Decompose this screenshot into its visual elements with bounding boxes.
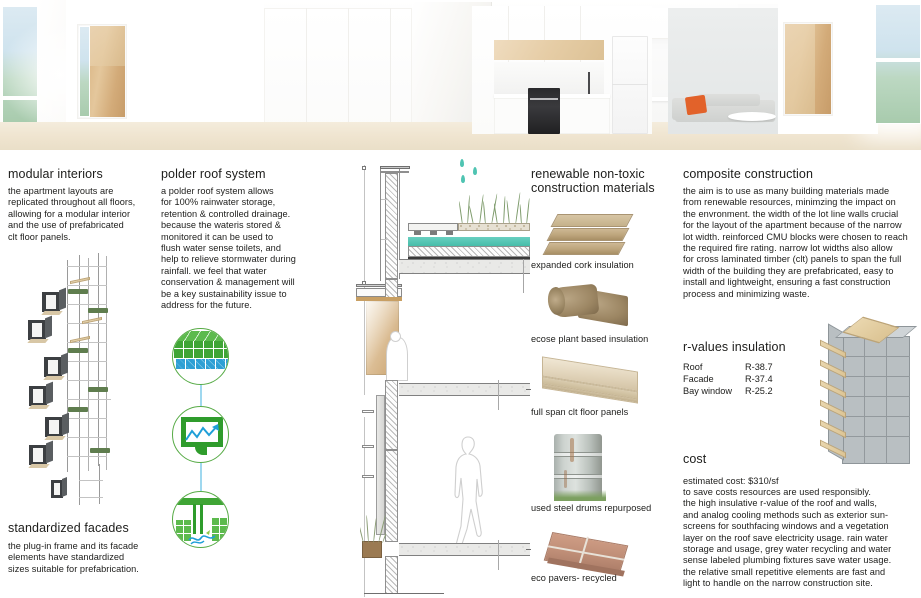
- wall-left-return: [38, 0, 66, 124]
- module-side: [46, 441, 53, 464]
- axo-floor-line-4: [842, 416, 910, 417]
- module-bottom: [27, 339, 48, 343]
- ecose-plant-based-insulation: [544, 280, 644, 336]
- heading-composite-construction: composite construction: [683, 167, 921, 181]
- paver-pedestal-1: [414, 231, 421, 235]
- parapet-outer-face: [380, 169, 381, 281]
- water-reuse-icon: [172, 491, 229, 548]
- table-row: Facade R-37.4: [683, 374, 813, 386]
- roof-water-storage: [408, 237, 530, 246]
- frame-rung-11: [67, 456, 107, 457]
- caption-used-steel-drums-repurposed: used steel drums repurposed: [531, 503, 706, 514]
- anchor-dot-1: [362, 166, 366, 170]
- guide-line-outer: [364, 165, 365, 395]
- guide-line-outer-2: [364, 417, 365, 597]
- planter-6: [90, 448, 110, 453]
- person-seated-head: [390, 331, 401, 342]
- module-side: [62, 477, 67, 497]
- heading-modular-interiors: modular interiors: [8, 167, 158, 181]
- lower-floor-slab: [399, 543, 530, 556]
- kitchen-wood-backsplash: [494, 40, 604, 60]
- module-opening: [49, 420, 59, 434]
- throw-pillow: [685, 95, 707, 116]
- window-right-jamb: [864, 0, 876, 134]
- planter-3: [68, 348, 88, 353]
- frame-rung-1: [67, 266, 107, 267]
- kitchen-refrigerator: [612, 36, 648, 134]
- body-standardized-facades: the plug-in frame and its facade element…: [8, 541, 158, 575]
- cork-slab-middle: [547, 228, 630, 241]
- green-roof-planting: [458, 191, 530, 225]
- frame-rung-4: [67, 323, 107, 324]
- wall-b: [136, 0, 264, 134]
- grass: [483, 201, 486, 225]
- ground-line: [364, 593, 444, 594]
- frame-rung-13: [79, 497, 103, 498]
- raindrop-3: [473, 167, 477, 175]
- parapet-tie-2: [381, 239, 387, 240]
- mid-slab-edge: [498, 380, 499, 410]
- used-steel-drums-repurposed: [548, 430, 612, 502]
- r-value-key: Facade: [683, 374, 745, 386]
- module-opening: [46, 295, 56, 309]
- planter-5: [68, 407, 88, 412]
- roof-storage-top-layer: [174, 331, 229, 341]
- fridge-seam: [612, 84, 648, 85]
- cost-estimate: estimated cost: $310/sf: [683, 476, 921, 487]
- roof-slab-edge: [523, 259, 524, 293]
- heading-renewable-materials: renewable non-toxic construction materia…: [531, 167, 681, 195]
- body-cost: to save costs resources are used respons…: [683, 487, 921, 590]
- module-bottom: [44, 436, 65, 440]
- raindrop-2: [461, 175, 465, 183]
- grass: [366, 515, 369, 543]
- expanded-cork-insulation: [540, 206, 640, 262]
- r-value-number: R-38.7: [745, 362, 795, 374]
- facade-module-7: [51, 480, 69, 500]
- grass: [526, 198, 530, 225]
- facade-module-1: [42, 292, 66, 316]
- frame-rung-8: [67, 399, 111, 400]
- roof-insulation-hatch: [408, 246, 530, 257]
- window-niche-left-glass: [79, 26, 90, 117]
- facade-module-3: [44, 357, 68, 381]
- module-side: [45, 316, 52, 339]
- lower-wall-hatch-2: [385, 450, 398, 542]
- frame-rung-2: [67, 285, 107, 286]
- parapet-tie-1: [381, 199, 387, 200]
- roof-clt-slab: [399, 259, 530, 274]
- grass: [360, 522, 364, 543]
- facade-module-4: [29, 386, 53, 410]
- planter-2: [88, 308, 108, 313]
- frame-post-6: [79, 467, 80, 505]
- sofa-back: [698, 94, 760, 106]
- frame-rung-3: [67, 304, 107, 305]
- drum-rib-top: [554, 452, 602, 457]
- window-right-mullion: [874, 58, 921, 62]
- paver-pedestal-3: [446, 231, 453, 235]
- window-left-mullion: [2, 96, 38, 100]
- module-bottom: [28, 464, 49, 468]
- body-polder-roof-system: a polder roof system allows for 100% rai…: [161, 186, 331, 311]
- facade-module-2: [28, 320, 52, 344]
- connector-2: [200, 463, 202, 491]
- module-opening: [48, 360, 58, 374]
- module-side: [59, 288, 66, 311]
- eco-pavers-recycled: [540, 528, 650, 576]
- person-seated-silhouette: [386, 337, 408, 381]
- roof-storage-water-grid: [175, 359, 228, 369]
- frame-rung-12: [79, 480, 103, 481]
- drum-rust-stain-2: [564, 470, 567, 488]
- mid-slab-right-tick: [526, 389, 531, 390]
- drum-rust-stain: [570, 438, 574, 462]
- module-side: [62, 413, 69, 436]
- facade-planter-grass: [360, 513, 386, 543]
- module-opening: [33, 448, 43, 462]
- presentation-board: modular interiors the apartment layouts …: [0, 0, 921, 598]
- facade-module-6: [29, 445, 53, 469]
- roof-storage-icon: [172, 328, 229, 385]
- lower-tie-2: [362, 445, 374, 448]
- r-value-number: R-25.2: [745, 386, 795, 398]
- full-span-clt-floor-panels: [536, 358, 646, 412]
- monitor-chart-line: [185, 423, 221, 443]
- cork-slab-bottom: [543, 242, 626, 255]
- kitchen-faucet: [588, 72, 590, 94]
- caption-expanded-cork-insulation: expanded cork insulation: [531, 260, 691, 271]
- module-bottom: [41, 311, 62, 315]
- table-row: Bay window R-25.2: [683, 386, 813, 398]
- body-modular-interiors: the apartment layouts are replicated thr…: [8, 186, 158, 243]
- caption-ecose-plant-based-insulation: ecose plant based insulation: [531, 334, 706, 345]
- person-walking-silhouette: [450, 433, 490, 553]
- axo-floor-line-2: [842, 376, 910, 377]
- r-value-key: Bay window: [683, 386, 745, 398]
- window-left: [2, 6, 38, 124]
- frame-rung-7: [67, 380, 107, 381]
- raindrop-1: [460, 159, 464, 167]
- grass: [378, 515, 386, 543]
- caption-eco-pavers-recycled: eco pavers- recycled: [531, 573, 706, 584]
- grass: [520, 204, 523, 225]
- axo-floor-line-5: [842, 436, 910, 437]
- r-value-number: R-37.4: [745, 374, 795, 386]
- module-bottom: [28, 405, 49, 409]
- roof-gravel-layer: [458, 223, 530, 231]
- body-composite-construction: the aim is to use as many building mater…: [683, 186, 921, 300]
- grass: [459, 201, 464, 225]
- heading-cost: cost: [683, 452, 833, 466]
- planter-1: [68, 289, 88, 294]
- parapet-cap: [380, 166, 410, 169]
- lower-tie-3: [362, 475, 374, 478]
- kitchen-range: [528, 88, 560, 134]
- wood-reveal-right-light: [785, 24, 815, 114]
- grass: [494, 203, 499, 225]
- window-right: [874, 4, 921, 124]
- facade-planter-box: [362, 541, 382, 558]
- r-values-table: Roof R-38.7 Facade R-37.4 Bay window R-2…: [683, 362, 813, 397]
- bottom-wall-hatch: [385, 556, 398, 594]
- range-handle: [530, 98, 558, 100]
- module-opening: [33, 389, 43, 403]
- planter-4: [88, 387, 108, 392]
- cabinet-seam-3: [390, 8, 391, 134]
- lower-slab-edge: [498, 540, 499, 570]
- cabinet-seam-2: [348, 8, 349, 134]
- monitor-stand: [195, 447, 207, 455]
- grass: [467, 195, 470, 225]
- table-row: Roof R-38.7: [683, 362, 813, 374]
- plug-in-frame-axonometric: [0, 252, 150, 510]
- paver-pedestal-2: [430, 231, 437, 235]
- coffee-table: [728, 112, 776, 121]
- drum-rib-mid: [554, 474, 602, 479]
- frame-rung-10: [67, 437, 107, 438]
- grass: [373, 518, 377, 543]
- wood-reveal-left-light: [90, 26, 125, 66]
- caption-full-span-clt-floor-panels: full span clt floor panels: [531, 407, 706, 418]
- axo-floor-line-1: [842, 356, 910, 357]
- roof-paver-row: [408, 223, 458, 231]
- reuse-water-flow: [187, 528, 217, 546]
- frame-post-3: [88, 258, 89, 471]
- module-opening: [32, 323, 42, 337]
- frame-rung-9: [67, 418, 107, 419]
- mid-floor-slab: [399, 383, 530, 396]
- heading-standardized-facades: standardized facades: [8, 521, 158, 535]
- grass: [506, 200, 510, 225]
- roof-storage-green-layer: [173, 339, 229, 359]
- cabinet-seam-1: [306, 8, 307, 134]
- lower-tie-1: [362, 410, 374, 413]
- parapet-wall-hatch: [385, 173, 398, 279]
- wall-section-drawing: [340, 155, 530, 598]
- module-bottom: [43, 376, 64, 380]
- cork-slab-top: [551, 214, 634, 227]
- facade-module-5: [45, 417, 69, 441]
- module-side: [46, 382, 53, 405]
- interior-render-right: [460, 0, 921, 150]
- grass: [503, 196, 506, 225]
- lower-slab-right-tick: [526, 549, 531, 550]
- monitor-chart-icon: [172, 406, 229, 463]
- module-side: [61, 353, 68, 376]
- heading-polder-roof-system: polder roof system: [161, 167, 326, 181]
- drum-grass: [554, 490, 606, 501]
- frame-rung-6: [67, 361, 107, 362]
- module-opening: [54, 483, 60, 495]
- lower-wall-hatch: [385, 380, 398, 450]
- r-value-key: Roof: [683, 362, 745, 374]
- sofa-arm: [672, 98, 686, 120]
- axo-floor-line-3: [842, 396, 910, 397]
